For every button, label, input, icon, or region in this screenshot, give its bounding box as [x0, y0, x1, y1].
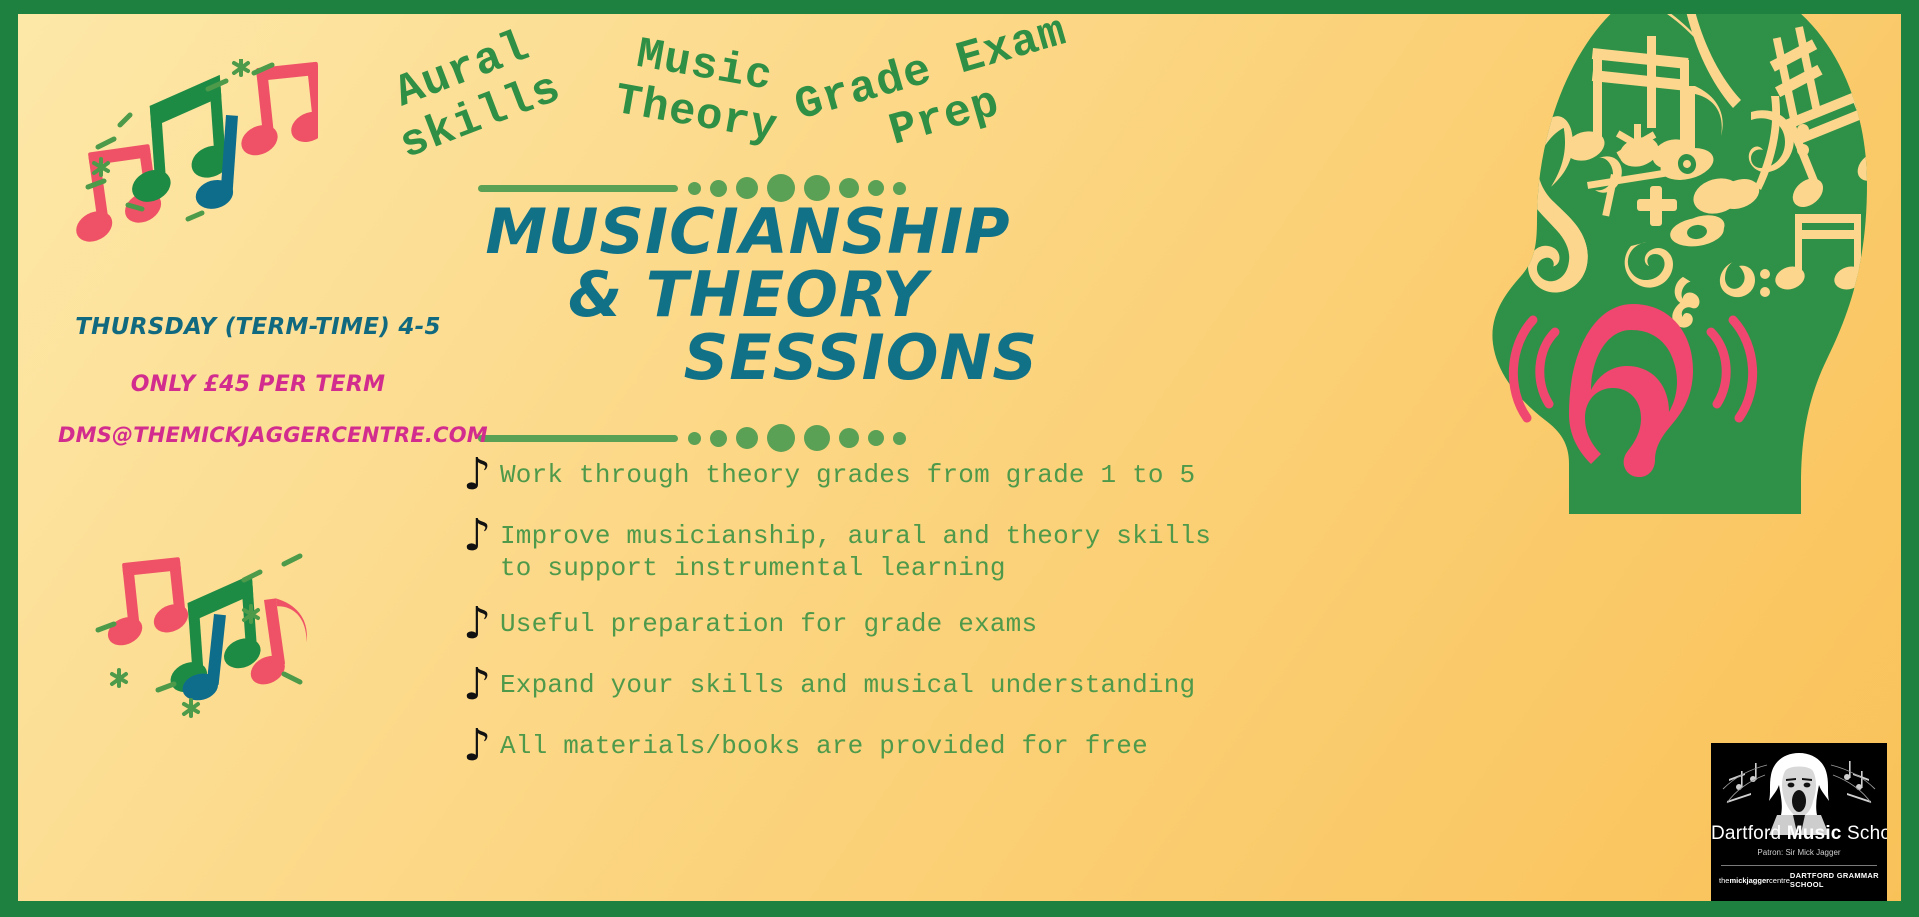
- logo-footer-the: the: [1719, 876, 1729, 885]
- music-notes-cluster-top: [58, 59, 318, 254]
- title-line-3: SESSIONS: [448, 326, 1048, 389]
- divider-dot: [688, 432, 701, 445]
- list-item-label: Expand your skills and musical understan…: [500, 664, 1195, 702]
- music-note-icon: ♪: [454, 454, 500, 496]
- logo-footer: themickjaggercentre DARTFORD GRAMMAR SCH…: [1719, 871, 1879, 889]
- info-block: THURSDAY (TERM-TIME) 4-5 ONLY £45 PER TE…: [58, 314, 458, 447]
- dartford-music-school-logo: Dartford Music School Patron: Sir Mick J…: [1711, 743, 1887, 901]
- divider-dot: [868, 430, 884, 446]
- divider-dot: [736, 427, 758, 449]
- logo-footer-mickjagger: mickjagger: [1729, 876, 1769, 885]
- divider-bottom: [478, 424, 906, 452]
- divider-bar: [478, 185, 678, 192]
- logo-patron: Patron: Sir Mick Jagger: [1711, 848, 1887, 857]
- poster-title: MUSICIANSHIP & THEORY SESSIONS: [448, 200, 1048, 390]
- music-notes-cluster-bottom: [88, 544, 348, 739]
- price-text: ONLY £45 PER TERM: [58, 372, 458, 397]
- music-note-icon: ♪: [454, 515, 500, 557]
- list-item: ♪ All materials/books are provided for f…: [454, 725, 1214, 767]
- divider-dot: [893, 432, 906, 445]
- music-note-icon: ♪: [454, 725, 500, 767]
- poster-canvas: Aural skills Music Theory Grade Exam Pre…: [18, 14, 1901, 901]
- list-item: ♪ Improve musicianship, aural and theory…: [454, 515, 1214, 584]
- musical-head-graphic: [1449, 14, 1869, 514]
- list-item: ♪ Useful preparation for grade exams: [454, 603, 1214, 645]
- poster-root: Aural skills Music Theory Grade Exam Pre…: [0, 0, 1919, 917]
- tag-aural-skills: Aural skills: [376, 17, 569, 171]
- contact-email[interactable]: DMS@THEMICKJAGGERCENTRE.COM: [58, 423, 458, 447]
- tag-grade-exam-prep: Grade Exam Prep: [790, 14, 1087, 181]
- divider-dot: [710, 180, 727, 197]
- logo-footer-centre: centre: [1769, 876, 1790, 885]
- divider-dot: [767, 424, 795, 452]
- title-line-2: & THEORY: [448, 263, 1048, 326]
- logo-name-part1: Dartford: [1711, 823, 1787, 844]
- list-item-label: Work through theory grades from grade 1 …: [500, 454, 1195, 492]
- list-item: ♪ Work through theory grades from grade …: [454, 454, 1214, 496]
- divider-bar: [478, 435, 678, 442]
- title-line-1: MUSICIANSHIP: [448, 200, 1048, 263]
- tag-music-theory: Music Theory: [611, 28, 790, 154]
- divider-dot: [868, 180, 884, 196]
- divider-dot: [893, 182, 906, 195]
- divider-dot: [710, 430, 727, 447]
- divider-dots: [688, 424, 906, 452]
- logo-name-part3: School: [1842, 823, 1887, 844]
- list-item-label: Useful preparation for grade exams: [500, 603, 1037, 641]
- divider-dot: [688, 182, 701, 195]
- music-note-icon: ♪: [454, 664, 500, 706]
- divider-dot: [839, 428, 859, 448]
- divider-dot: [804, 425, 830, 451]
- list-item: ♪ Expand your skills and musical underst…: [454, 664, 1214, 706]
- benefits-list: ♪ Work through theory grades from grade …: [454, 454, 1214, 786]
- logo-name-part2: Music: [1787, 823, 1842, 844]
- logo-name: Dartford Music School: [1711, 823, 1887, 845]
- list-item-label: Improve musicianship, aural and theory s…: [500, 515, 1211, 584]
- list-item-label: All materials/books are provided for fre…: [500, 725, 1148, 763]
- schedule-text: THURSDAY (TERM-TIME) 4-5: [58, 314, 458, 340]
- logo-footer-mjc: themickjaggercentre: [1719, 876, 1790, 885]
- logo-footer-dgs: DARTFORD GRAMMAR SCHOOL: [1790, 871, 1879, 889]
- music-note-icon: ♪: [454, 603, 500, 645]
- logo-divider: [1721, 865, 1877, 866]
